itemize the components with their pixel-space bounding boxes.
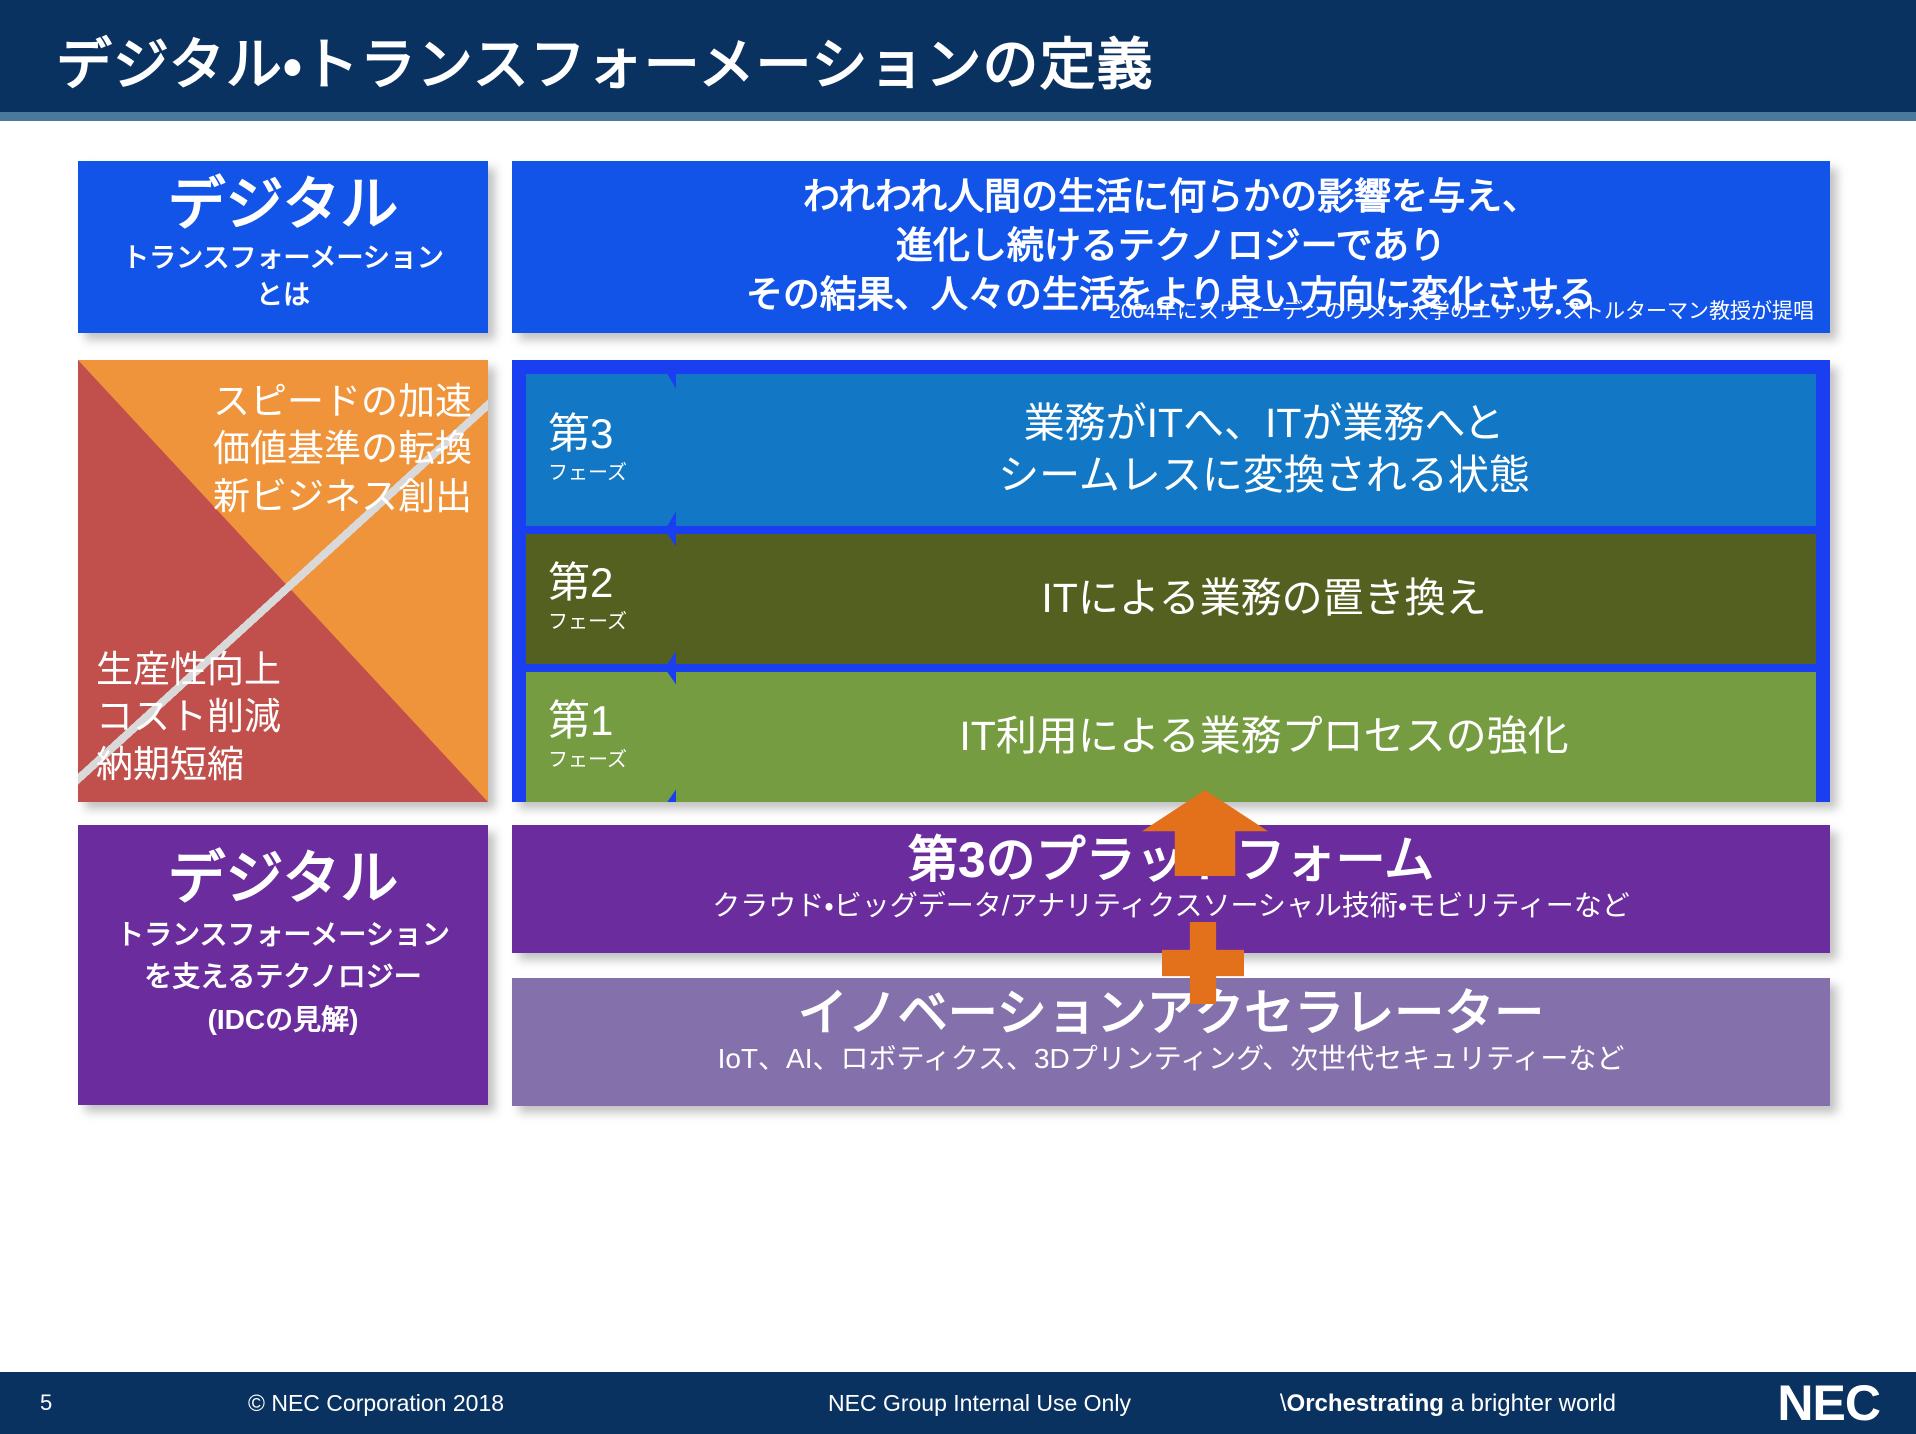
- technology-label-box: デジタル トランスフォーメーション を支えるテクノロジー (IDCの見解): [78, 825, 488, 1105]
- dx-definition-line-1: われわれ人間の生活に何らかの影響を与え、: [512, 173, 1830, 222]
- phase-2-unit: フェーズ: [548, 608, 627, 636]
- dx-label-sub-line1: トランスフォーメーション: [78, 242, 488, 275]
- phase-2-number: 第2: [548, 562, 613, 604]
- phase-row-2: 第2 フェーズ ITによる業務の置き換え: [526, 534, 1816, 664]
- phase-1-number: 第1: [548, 700, 613, 742]
- benefit-bottom-line-2: コスト削減: [96, 693, 281, 740]
- benefit-top-line-1: スピードの加速: [213, 378, 472, 425]
- footer-tagline: \Orchestrating a brighter world: [1280, 1390, 1616, 1418]
- phase-3-body: 業務がITへ、ITが業務へと シームレスに変換される状態: [676, 374, 1816, 526]
- page-title: デジタル・トランスフォーメーションの定義: [56, 20, 1153, 101]
- dx-definition-text-box: われわれ人間の生活に何らかの影響を与え、 進化し続けるテクノロジーであり その結…: [512, 161, 1830, 333]
- tagline-bold: Orchestrating: [1287, 1390, 1444, 1417]
- benefits-upper-text: スピードの加速 価値基準の転換 新ビジネス創出: [213, 378, 472, 520]
- tagline-rest: a brighter world: [1444, 1390, 1616, 1417]
- technology-label-sub-line2: を支えるテクノロジー: [78, 959, 488, 995]
- nec-logo: NEC: [1777, 1374, 1880, 1432]
- phase-2-body: ITによる業務の置き換え: [676, 534, 1816, 664]
- footer-page-number: 5: [40, 1390, 52, 1416]
- phase-3-unit: フェーズ: [548, 459, 627, 487]
- benefit-bottom-line-1: 生産性向上: [96, 646, 281, 693]
- footer-confidentiality: NEC Group Internal Use Only: [828, 1390, 1131, 1417]
- phase-1-line-1: IT利用による業務プロセスの強化: [959, 711, 1568, 763]
- innovation-accelerator-box: イノベーションアクセラレーター IoT、AI、ロボティクス、3Dプリンティング、…: [512, 978, 1830, 1106]
- dx-label-sub-line2: とは: [78, 279, 488, 312]
- technology-label-sub-line1: トランスフォーメーション: [78, 917, 488, 953]
- phase-3-line-1: 業務がITへ、ITが業務へと: [998, 398, 1530, 450]
- phase-1-unit: フェーズ: [548, 746, 627, 774]
- footer-copyright: © NEC Corporation 2018: [248, 1390, 504, 1417]
- header-accent-rule: [0, 112, 1916, 121]
- phase-1-body: IT利用による業務プロセスの強化: [676, 672, 1816, 802]
- phase-2-line-1: ITによる業務の置き換え: [1041, 573, 1486, 625]
- innovation-accelerator-subtitle: IoT、AI、ロボティクス、3Dプリンティング、次世代セキュリティーなど: [512, 1042, 1830, 1076]
- benefit-top-line-2: 価値基準の転換: [213, 425, 472, 472]
- third-platform-subtitle: クラウド・ビッグデータ/アナリティクスソーシャル技術・モビリティーなど: [512, 889, 1830, 923]
- benefits-lower-text: 生産性向上 コスト削減 納期短縮: [96, 646, 281, 788]
- benefit-top-line-3: 新ビジネス創出: [213, 473, 472, 520]
- dx-definition-credit: 2004年にスウェーデンのウメオ大学のエリック・ストルターマン教授が提唱: [1109, 295, 1814, 325]
- dx-definition-line-2: 進化し続けるテクノロジーであり: [512, 222, 1830, 271]
- technology-label-main: デジタル: [78, 847, 488, 911]
- benefit-bottom-line-3: 納期短縮: [96, 741, 281, 788]
- tagline-slash-mark: \: [1280, 1390, 1287, 1417]
- slide-header: デジタル・トランスフォーメーションの定義: [0, 0, 1916, 112]
- dx-label-main: デジタル: [78, 173, 488, 238]
- innovation-accelerator-title: イノベーションアクセラレーター: [512, 986, 1830, 1040]
- third-platform-box: 第3のプラットフォーム クラウド・ビッグデータ/アナリティクスソーシャル技術・モ…: [512, 825, 1830, 953]
- third-platform-title: 第3のプラットフォーム: [512, 833, 1830, 887]
- technology-label-sub-line3: (IDCの見解): [78, 1002, 488, 1038]
- phase-3-line-2: シームレスに変換される状態: [998, 450, 1530, 502]
- phases-container: 第3 フェーズ 業務がITへ、ITが業務へと シームレスに変換される状態 第2 …: [512, 360, 1830, 802]
- phase-row-1: 第1 フェーズ IT利用による業務プロセスの強化: [526, 672, 1816, 802]
- phase-3-number: 第3: [548, 413, 613, 455]
- phase-row-3: 第3 フェーズ 業務がITへ、ITが業務へと シームレスに変換される状態: [526, 374, 1816, 526]
- benefits-split-panel: スピードの加速 価値基準の転換 新ビジネス創出 生産性向上 コスト削減 納期短縮: [78, 360, 488, 802]
- dx-definition-label-box: デジタル トランスフォーメーション とは: [78, 161, 488, 333]
- slide-footer: 5 © NEC Corporation 2018 NEC Group Inter…: [0, 1372, 1916, 1434]
